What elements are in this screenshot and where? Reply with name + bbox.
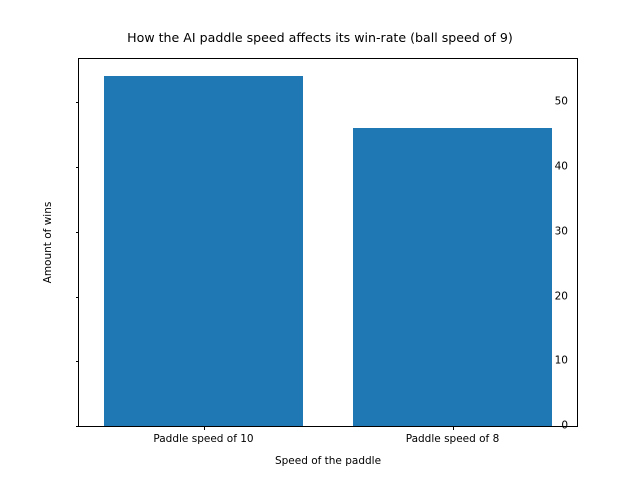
matplotlib-figure: How the AI paddle speed affects its win-… <box>0 0 640 480</box>
x-axis-label: Speed of the paddle <box>78 455 578 467</box>
x-axis-tick-label: Paddle speed of 10 <box>153 433 253 445</box>
y-axis-tick <box>76 426 80 427</box>
y-axis-tick <box>76 167 80 168</box>
x-axis-tick <box>204 426 205 430</box>
y-axis-tick <box>76 297 80 298</box>
y-axis-tick-label: 50 <box>555 97 568 108</box>
bar <box>353 128 552 426</box>
x-axis-tick-label: Paddle speed of 8 <box>406 433 500 445</box>
y-axis-tick-label: 30 <box>555 226 568 237</box>
x-axis-tick <box>453 426 454 430</box>
y-axis-tick-label: 10 <box>555 356 568 367</box>
y-axis-tick <box>76 102 80 103</box>
chart-title: How the AI paddle speed affects its win-… <box>0 30 640 45</box>
plot-area <box>79 59 577 426</box>
y-axis-tick-label: 40 <box>555 162 568 173</box>
y-axis-tick <box>76 361 80 362</box>
y-axis-tick-label: 20 <box>555 291 568 302</box>
y-axis-label: Amount of wins <box>40 58 56 427</box>
bar <box>104 76 303 426</box>
y-axis-tick-label: 0 <box>561 421 568 432</box>
y-axis-tick <box>76 232 80 233</box>
plot-axes: 01020304050Paddle speed of 10Paddle spee… <box>78 58 578 427</box>
